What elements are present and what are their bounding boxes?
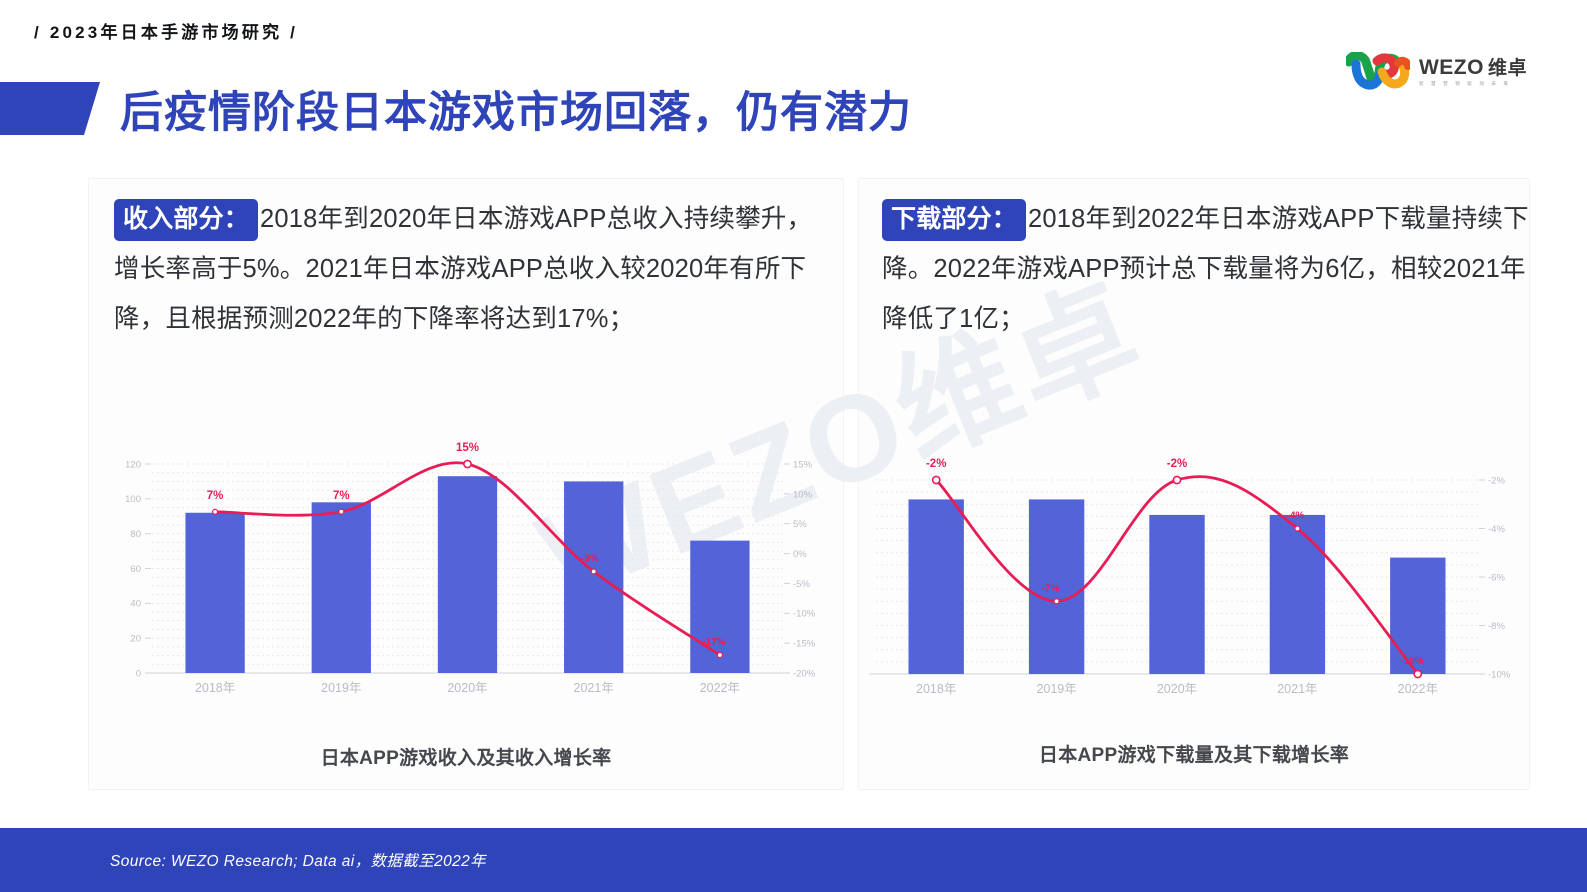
logo-wordmark: WEZO维卓 bbox=[1419, 57, 1527, 78]
svg-text:2018年: 2018年 bbox=[916, 682, 956, 696]
svg-text:0: 0 bbox=[136, 668, 141, 679]
revenue-chart-caption: 日本APP游戏收入及其收入增长率 bbox=[88, 743, 844, 770]
svg-text:-2%: -2% bbox=[1167, 458, 1187, 470]
svg-text:2020年: 2020年 bbox=[447, 681, 487, 695]
svg-text:7%: 7% bbox=[333, 490, 350, 502]
svg-text:120: 120 bbox=[125, 459, 141, 470]
svg-text:20: 20 bbox=[130, 634, 141, 645]
wezo-logo-icon bbox=[1346, 52, 1410, 92]
svg-text:-6%: -6% bbox=[1488, 572, 1505, 583]
svg-text:2020年: 2020年 bbox=[1157, 682, 1197, 696]
svg-text:-4%: -4% bbox=[1488, 524, 1505, 535]
svg-text:7%: 7% bbox=[207, 490, 224, 502]
svg-text:-8%: -8% bbox=[1488, 621, 1505, 632]
svg-text:40: 40 bbox=[130, 599, 141, 610]
svg-text:-7%: -7% bbox=[1042, 583, 1060, 594]
source-note: Source: WEZO Research; Data ai，数据截至2022年 bbox=[110, 849, 486, 871]
svg-text:10%: 10% bbox=[793, 489, 813, 500]
svg-text:-10%: -10% bbox=[1400, 656, 1423, 667]
svg-text:80: 80 bbox=[130, 529, 141, 540]
svg-text:2022年: 2022年 bbox=[700, 681, 740, 695]
footer-bar: Source: WEZO Research; Data ai，数据截至2022年 bbox=[0, 828, 1587, 892]
svg-text:-17%: -17% bbox=[702, 637, 725, 648]
revenue-tag: 收入部分： bbox=[114, 199, 258, 241]
svg-text:-5%: -5% bbox=[793, 579, 810, 590]
svg-text:100: 100 bbox=[125, 494, 141, 505]
svg-text:2019年: 2019年 bbox=[321, 681, 361, 695]
svg-text:5%: 5% bbox=[793, 519, 807, 530]
svg-text:-15%: -15% bbox=[793, 639, 816, 650]
svg-text:-3%: -3% bbox=[581, 553, 599, 564]
svg-text:2018年: 2018年 bbox=[195, 681, 235, 695]
svg-text:-2%: -2% bbox=[1488, 475, 1505, 486]
svg-text:-20%: -20% bbox=[793, 668, 816, 679]
svg-text:15%: 15% bbox=[793, 459, 813, 470]
downloads-chart-caption: 日本APP游戏下载量及其下载增长率 bbox=[858, 740, 1530, 767]
page-title: 后疫情阶段日本游戏市场回落，仍有潜力 bbox=[120, 78, 912, 140]
svg-text:-10%: -10% bbox=[1488, 669, 1511, 680]
svg-text:-4%: -4% bbox=[1287, 511, 1305, 522]
svg-text:2021年: 2021年 bbox=[574, 681, 614, 695]
revenue-lead: 收入部分：2018年到2020年日本游戏APP总收入持续攀升，增长率高于5%。2… bbox=[114, 194, 834, 344]
svg-text:60: 60 bbox=[130, 564, 141, 575]
downloads-tag: 下载部分： bbox=[882, 199, 1026, 241]
downloads-lead: 下载部分：2018年到2022年日本游戏APP下载量持续下降。2022年游戏AP… bbox=[882, 194, 1530, 344]
svg-text:2021年: 2021年 bbox=[1277, 682, 1317, 696]
wezo-logo: WEZO维卓 智 慧 营 销 驱 动 未 来 bbox=[1346, 52, 1527, 92]
logo-wordmark-cn: 维卓 bbox=[1488, 58, 1527, 79]
slide-page: / 2023年日本手游市场研究 / WEZO维卓 智 慧 营 销 驱 动 未 来… bbox=[0, 0, 1587, 892]
svg-text:0%: 0% bbox=[793, 549, 807, 560]
svg-text:2019年: 2019年 bbox=[1036, 682, 1076, 696]
revenue-chart: 020406080100120-20%-15%-10%-5%0%5%10%15%… bbox=[110, 450, 825, 705]
svg-text:-2%: -2% bbox=[926, 458, 946, 470]
svg-text:-10%: -10% bbox=[793, 609, 816, 620]
logo-tagline: 智 慧 营 销 驱 动 未 来 bbox=[1419, 82, 1527, 87]
svg-text:2022年: 2022年 bbox=[1398, 682, 1438, 696]
svg-text:15%: 15% bbox=[456, 442, 479, 454]
downloads-chart: -10%-8%-6%-4%-2%-2%-7%-2%-4%-10%2018年201… bbox=[862, 458, 1522, 706]
breadcrumb: / 2023年日本手游市场研究 / bbox=[34, 18, 298, 43]
title-accent-bar bbox=[0, 82, 100, 135]
wezo-logo-text: WEZO维卓 智 慧 营 销 驱 动 未 来 bbox=[1419, 57, 1527, 87]
